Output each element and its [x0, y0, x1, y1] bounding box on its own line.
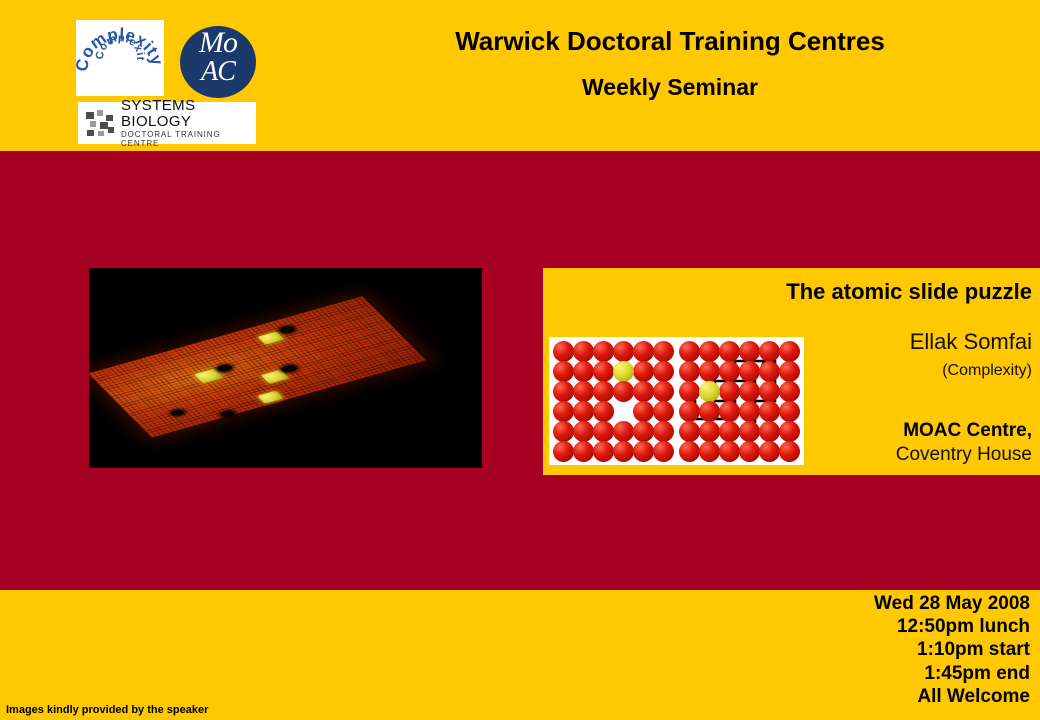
atom — [633, 381, 654, 402]
atom — [739, 361, 760, 382]
atom — [739, 441, 760, 462]
systems-biology-logo: SYSTEMS BIOLOGY DOCTORAL TRAINING CENTRE — [78, 102, 256, 144]
stm-surface-image — [89, 268, 482, 468]
systems-biology-logo-line2: DOCTORAL TRAINING CENTRE — [121, 130, 256, 148]
atom — [573, 441, 594, 462]
atom — [679, 441, 700, 462]
moac-logo-line1: Mo — [178, 28, 258, 58]
schedule-line: 1:45pm end — [630, 662, 1030, 685]
atom — [653, 401, 674, 422]
adatom-cluster — [257, 391, 284, 404]
tracer-atom — [699, 381, 720, 402]
stm-lattice-render — [89, 296, 426, 438]
schedule-line: All Welcome — [630, 685, 1030, 708]
atom — [739, 341, 760, 362]
seminar-info-panel: The atomic slide puzzle Ellak Somfai (Co… — [543, 268, 1040, 475]
complexity-logo: Complexity Complexity — [76, 20, 164, 96]
venue-line-1: MOAC Centre, — [832, 420, 1032, 442]
atom — [779, 361, 800, 382]
atom — [553, 361, 574, 382]
atom — [719, 441, 740, 462]
atom — [613, 421, 634, 442]
atom — [593, 381, 614, 402]
puzzle-grid-right — [679, 341, 799, 461]
vacancy-spot — [219, 410, 236, 418]
atom — [573, 421, 594, 442]
atom — [633, 421, 654, 442]
atom — [679, 401, 700, 422]
atom — [699, 361, 720, 382]
systems-biology-wordmark: SYSTEMS BIOLOGY DOCTORAL TRAINING CENTRE — [121, 98, 256, 148]
atom — [633, 341, 654, 362]
atom — [593, 421, 614, 442]
puzzle-grid-left — [553, 341, 673, 461]
logo-group: Complexity Complexity Mo AC — [76, 20, 260, 145]
atom — [759, 421, 780, 442]
speaker-affiliation: (Complexity) — [832, 362, 1032, 380]
atom — [699, 441, 720, 462]
schedule-line: Wed 28 May 2008 — [630, 592, 1030, 615]
atom — [759, 361, 780, 382]
footer-band: Wed 28 May 200812:50pm lunch1:10pm start… — [0, 590, 1040, 720]
atom — [593, 341, 614, 362]
atom — [593, 441, 614, 462]
systems-biology-network-icon — [86, 110, 116, 136]
atom — [633, 361, 654, 382]
atom — [613, 341, 634, 362]
atom — [633, 441, 654, 462]
talk-title: The atomic slide puzzle — [786, 279, 1032, 305]
tracer-atom — [613, 361, 634, 382]
atom — [779, 421, 800, 442]
atom — [633, 401, 654, 422]
atom — [653, 441, 674, 462]
atom — [653, 381, 674, 402]
atom — [699, 341, 720, 362]
atom — [553, 381, 574, 402]
atom — [573, 341, 594, 362]
page-subtitle: Weekly Seminar — [300, 74, 1040, 101]
atom — [719, 361, 740, 382]
atom — [573, 401, 594, 422]
page-title: Warwick Doctoral Training Centres — [300, 26, 1040, 57]
atom — [679, 421, 700, 442]
atom — [779, 441, 800, 462]
atom — [779, 381, 800, 402]
atom — [553, 421, 574, 442]
atom — [553, 341, 574, 362]
atom — [779, 401, 800, 422]
speaker-name: Ellak Somfai — [832, 330, 1032, 355]
atom — [679, 341, 700, 362]
vacancy-spot — [278, 325, 296, 334]
slide-puzzle-figure — [549, 337, 804, 465]
atom — [739, 381, 760, 402]
tracer-path-icon — [679, 341, 799, 461]
moac-logo: Mo AC — [178, 22, 258, 102]
systems-biology-logo-line1: SYSTEMS BIOLOGY — [121, 98, 256, 130]
atom — [653, 361, 674, 382]
atom — [679, 361, 700, 382]
vacancy-spot — [170, 409, 186, 417]
atom — [553, 401, 574, 422]
seminar-poster: Complexity Complexity Mo AC — [0, 0, 1040, 720]
atom — [719, 401, 740, 422]
schedule-line: 1:10pm start — [630, 638, 1030, 661]
atom — [779, 341, 800, 362]
atom — [593, 401, 614, 422]
atom — [759, 341, 780, 362]
atom — [679, 381, 700, 402]
atom — [593, 361, 614, 382]
atom — [553, 441, 574, 462]
atom — [739, 401, 760, 422]
complexity-spiral-icon: Complexity Complexity — [76, 20, 164, 96]
image-credit: Images kindly provided by the speaker — [6, 704, 208, 716]
adatom-cluster — [258, 331, 285, 344]
schedule-lines: Wed 28 May 200812:50pm lunch1:10pm start… — [630, 592, 1030, 708]
atom — [613, 381, 634, 402]
atom — [573, 381, 594, 402]
moac-logo-line2: AC — [178, 58, 258, 86]
venue-line-2: Coventry House — [832, 444, 1032, 466]
schedule-line: 12:50pm lunch — [630, 615, 1030, 638]
atom — [613, 441, 634, 462]
atom — [573, 361, 594, 382]
svg-text:Complexity: Complexity — [76, 25, 164, 73]
atom — [699, 421, 720, 442]
atom — [699, 401, 720, 422]
atom — [719, 341, 740, 362]
atom — [719, 381, 740, 402]
atom — [759, 381, 780, 402]
atom — [719, 421, 740, 442]
atom — [759, 441, 780, 462]
header-band: Complexity Complexity Mo AC — [0, 0, 1040, 151]
atom — [739, 421, 760, 442]
atom — [759, 401, 780, 422]
atom — [653, 421, 674, 442]
atom — [653, 341, 674, 362]
